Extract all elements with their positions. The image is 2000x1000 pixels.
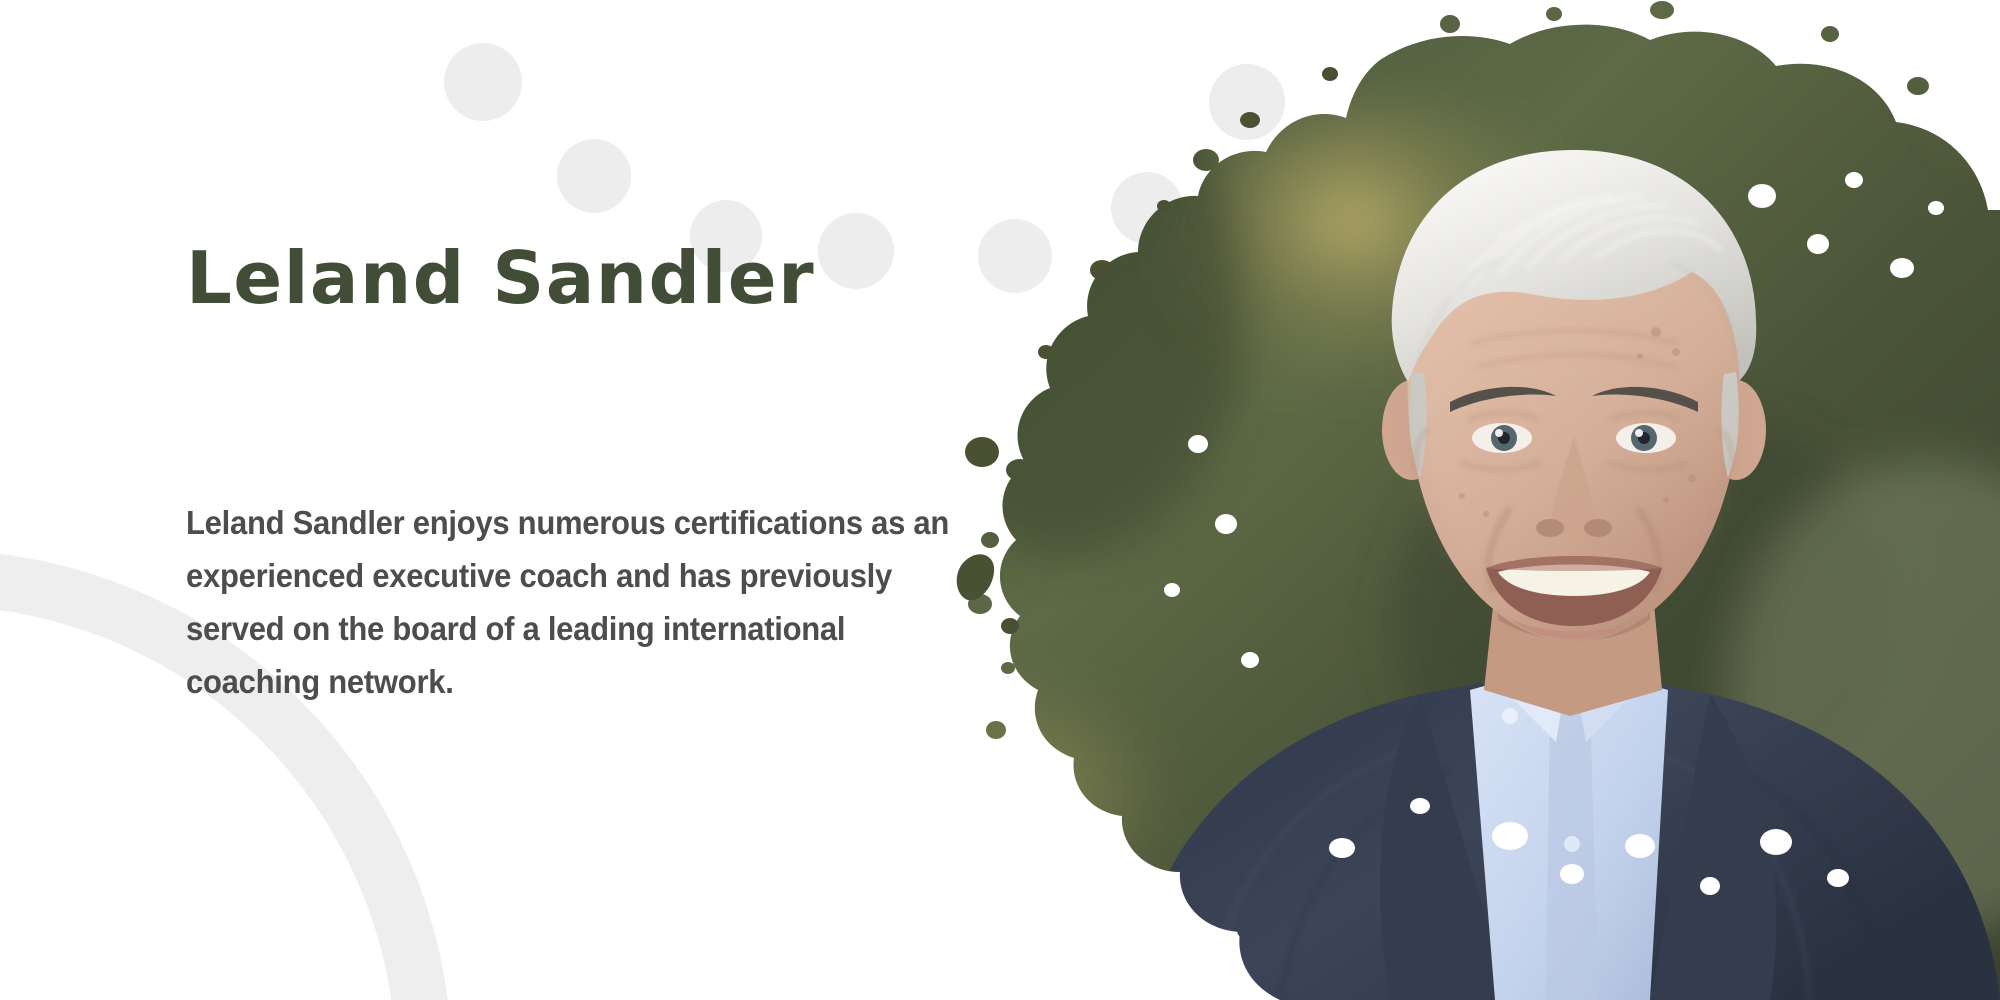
page-title: Leland Sandler: [186, 242, 815, 314]
text-content: Leland Sandler Leland Sandler enjoys num…: [186, 0, 1066, 1000]
bio-paragraph: Leland Sandler enjoys numerous certifica…: [186, 496, 966, 708]
portrait-svg: [950, 0, 2000, 1000]
portrait-photo: [950, 0, 2000, 1000]
hero-banner: Leland Sandler Leland Sandler enjoys num…: [0, 0, 2000, 1000]
